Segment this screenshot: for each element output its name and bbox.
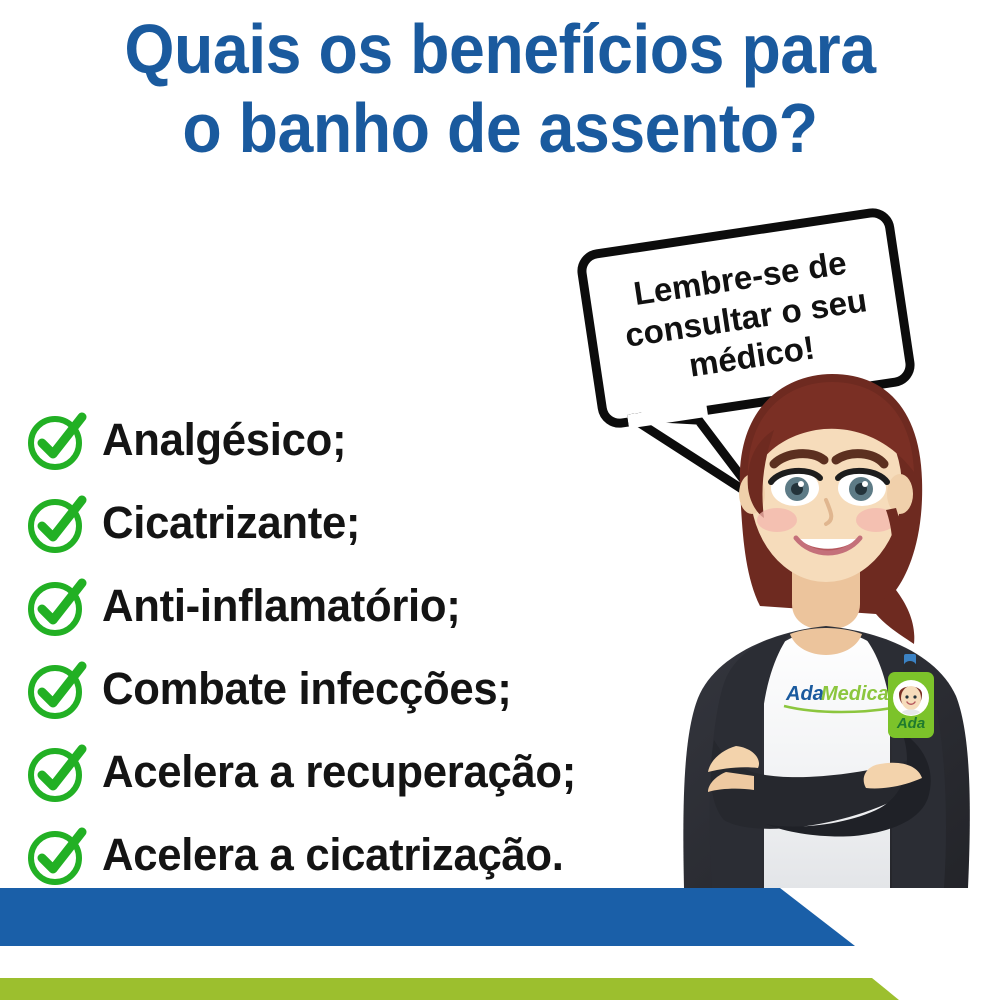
benefit-label: Analgésico; — [102, 414, 346, 466]
benefit-item-5: Acelera a recuperação; — [26, 730, 726, 813]
shirt-logo-ada: Ada — [785, 683, 824, 705]
page-title-line-1: Quais os benefícios para — [40, 14, 960, 85]
benefit-item-2: Cicatrizante; — [26, 481, 726, 564]
benefit-label: Acelera a recuperação; — [102, 746, 576, 798]
benefits-list: Analgésico; Cicatrizante; Anti-inflamató… — [26, 398, 726, 896]
check-circle-icon — [26, 575, 88, 637]
body — [683, 626, 969, 888]
benefit-label: Combate infecções; — [102, 663, 512, 715]
page-title: Quais os benefícios para o banho de asse… — [40, 14, 960, 165]
shirt-logo-medical: Medical — [821, 683, 895, 705]
page-title-line-2: o banho de assento? — [40, 93, 960, 164]
banner-stripe-green — [0, 978, 1000, 1000]
check-circle-icon — [26, 741, 88, 803]
banner-stripe-blue — [0, 888, 1000, 946]
benefit-item-4: Combate infecções; — [26, 647, 726, 730]
benefit-item-3: Anti-inflamatório; — [26, 564, 726, 647]
check-circle-icon — [26, 492, 88, 554]
check-circle-icon — [26, 409, 88, 471]
poster-canvas: Quais os benefícios para o banho de asse… — [0, 0, 1000, 1000]
benefit-label: Anti-inflamatório; — [102, 580, 460, 632]
check-circle-icon — [26, 658, 88, 720]
bottom-banner — [0, 860, 1000, 1000]
benefit-item-1: Analgésico; — [26, 398, 726, 481]
benefit-label: Cicatrizante; — [102, 497, 360, 549]
badge-name: Ada — [896, 715, 925, 732]
